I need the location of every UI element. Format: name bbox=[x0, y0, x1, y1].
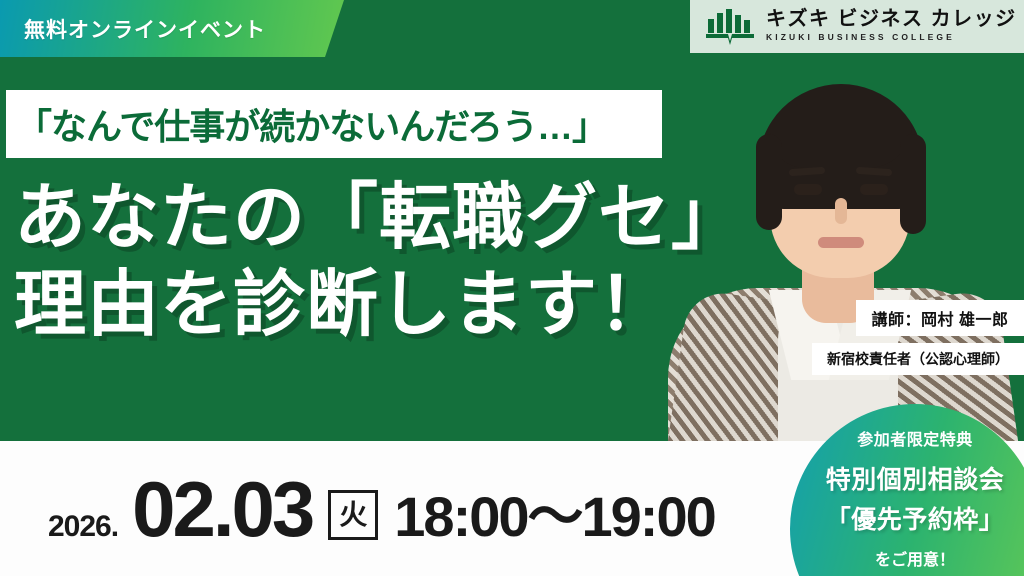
event-day-of-week-box: 火 bbox=[328, 490, 378, 540]
event-date-bar: 2026. 02.03 火 18:00〜19:00 bbox=[0, 441, 1024, 576]
portrait-hair-side-left bbox=[756, 134, 782, 230]
portrait-hair-side-right bbox=[900, 134, 926, 234]
portrait-nose bbox=[835, 198, 847, 224]
free-event-tag: 無料オンラインイベント bbox=[0, 0, 344, 57]
portrait-hair-fringe bbox=[770, 124, 912, 168]
speaker-portrait bbox=[650, 38, 1024, 441]
event-time-range: 18:00〜19:00 bbox=[394, 489, 714, 545]
portrait-eye-right bbox=[860, 184, 888, 195]
speaker-name-label: 講師：岡村 雄一郎 bbox=[872, 306, 1009, 330]
sub-headline-band: 「なんで仕事が続かないんだろう…」 bbox=[6, 90, 662, 158]
speaker-role-plate: 新宿校責任者（公認心理師） bbox=[812, 343, 1024, 375]
portrait-mouth bbox=[818, 237, 864, 248]
portrait-eye-left bbox=[794, 184, 822, 195]
brand-name-japanese: キズキ ビジネス カレッジ bbox=[766, 9, 1017, 30]
event-day-of-week: 火 bbox=[339, 501, 367, 529]
event-year: 2026. bbox=[48, 510, 118, 544]
speaker-role-label: 新宿校責任者（公認心理師） bbox=[827, 349, 1009, 369]
sub-headline-text: 「なんで仕事が続かないんだろう…」 bbox=[16, 98, 607, 150]
event-month-day: 02.03 bbox=[132, 470, 312, 548]
event-date-group: 2026. 02.03 火 18:00〜19:00 bbox=[48, 470, 715, 548]
free-event-tag-label: 無料オンラインイベント bbox=[24, 14, 266, 44]
event-banner: 無料オンラインイベント キズキ ビジネス カレッジ KIZUKI BUSINES… bbox=[0, 0, 1024, 576]
speaker-name-plate: 講師：岡村 雄一郎 bbox=[856, 300, 1024, 336]
